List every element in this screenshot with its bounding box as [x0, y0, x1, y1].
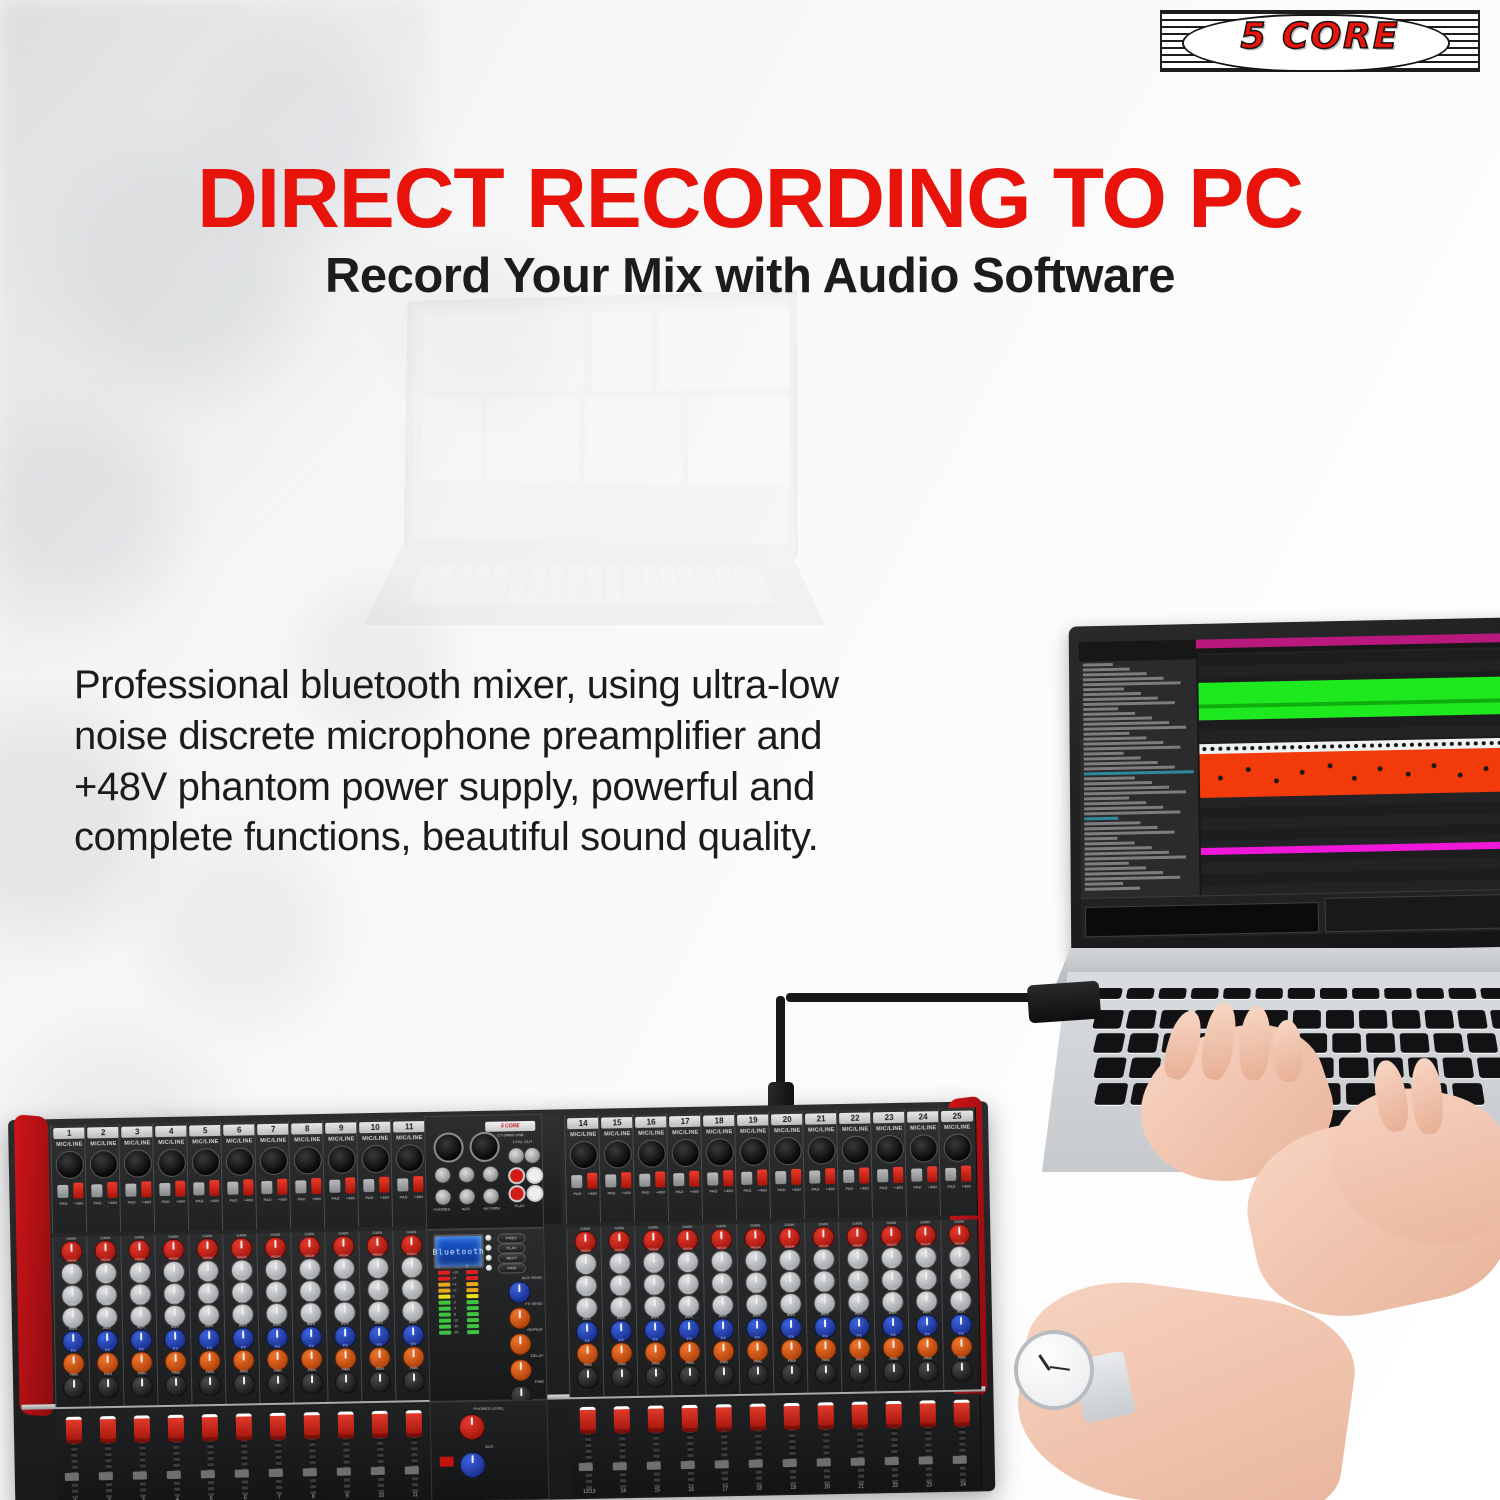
combo-jack[interactable] — [604, 1140, 633, 1169]
phantom-power-switch[interactable] — [791, 1169, 801, 1185]
vu-scale-label: -2 — [453, 1300, 456, 1304]
pad-switch[interactable] — [673, 1173, 684, 1186]
fader-cap[interactable] — [372, 1411, 389, 1438]
pad-label: PAD — [362, 1195, 378, 1200]
vu-scale-label: -30 — [453, 1330, 458, 1334]
combo-jack[interactable] — [875, 1135, 904, 1164]
vu-segment-right — [467, 1318, 479, 1322]
fader-cap[interactable] — [648, 1405, 665, 1432]
vu-segment-left — [438, 1271, 450, 1275]
pad-switch[interactable] — [193, 1182, 204, 1195]
fader-cap[interactable] — [614, 1406, 631, 1433]
body-paragraph: Professional bluetooth mixer, using ultr… — [74, 660, 864, 863]
vu-segment-left — [438, 1289, 450, 1293]
phones-jack[interactable] — [434, 1167, 451, 1184]
fader-cap[interactable] — [920, 1400, 937, 1427]
pfl-button[interactable] — [919, 1456, 933, 1464]
page-subheadline: Record Your Mix with Audio Software — [0, 248, 1500, 304]
combo-jack[interactable] — [124, 1149, 153, 1178]
pfl-button[interactable] — [201, 1470, 215, 1478]
combo-jack[interactable] — [226, 1147, 255, 1176]
bt-button-pair[interactable]: PAIR — [498, 1263, 526, 1274]
pad-label: PAD — [841, 1186, 857, 1191]
phones-label: PHONES — [429, 1206, 455, 1211]
vu-left-label: L — [438, 1265, 440, 1269]
channel-fader[interactable]: 8 — [294, 1406, 333, 1500]
pfl-button[interactable] — [715, 1460, 729, 1468]
channel-number: 21 — [805, 1113, 837, 1125]
channel-fader[interactable]: 1 — [56, 1410, 95, 1500]
phantom-power-switch[interactable] — [379, 1177, 389, 1193]
channel-input-label: MIC/LINE — [153, 1140, 189, 1147]
phantom-power-switch[interactable] — [107, 1182, 117, 1198]
phantom-label: +48V — [958, 1183, 974, 1188]
pad-label: PAD — [396, 1194, 412, 1199]
usb-plug-laptop-end — [1027, 981, 1101, 1024]
combo-jack[interactable] — [671, 1139, 700, 1168]
combo-jack[interactable] — [328, 1145, 357, 1174]
phantom-label: +48V — [139, 1199, 155, 1204]
channel-number: 17 — [669, 1116, 701, 1128]
phantom-label: +48V — [207, 1198, 223, 1203]
channel-fader[interactable]: 2 — [90, 1410, 129, 1500]
knob-pan[interactable] — [815, 1362, 837, 1384]
pad-label: PAD — [260, 1197, 276, 1202]
vu-scale-label: -20 — [453, 1324, 458, 1328]
master-knob-label: FINE — [488, 1379, 544, 1385]
pad-switch[interactable] — [945, 1168, 956, 1181]
channel-fader[interactable]: 14 — [603, 1400, 642, 1497]
fader-cap[interactable] — [852, 1402, 869, 1429]
phantom-power-switch[interactable] — [689, 1171, 699, 1187]
phantom-power-switch[interactable] — [209, 1180, 219, 1196]
pad-switch[interactable] — [295, 1180, 306, 1193]
mixer-channel-strip[interactable]: 25MIC/LINEPAD+48V — [938, 1107, 978, 1216]
pfl-button[interactable] — [579, 1463, 593, 1471]
phantom-label: +48V — [584, 1191, 600, 1196]
fader-number: 8 — [295, 1494, 331, 1500]
logo-text: 5 CORE — [1160, 16, 1480, 57]
channel-fader[interactable]: 19 — [773, 1397, 812, 1494]
pad-switch[interactable] — [227, 1182, 238, 1195]
channel-number: 10 — [359, 1122, 391, 1134]
pad-switch[interactable] — [57, 1185, 68, 1198]
pad-switch[interactable] — [125, 1184, 136, 1197]
knob-pan[interactable] — [131, 1375, 153, 1397]
pad-switch[interactable] — [877, 1169, 888, 1182]
phantom-power-switch[interactable] — [757, 1169, 767, 1185]
channel-number: 5 — [189, 1125, 221, 1137]
daw-transport — [1081, 889, 1500, 940]
combo-jack[interactable] — [943, 1134, 972, 1163]
combo-jack[interactable] — [362, 1145, 391, 1174]
channel-fader[interactable]: 12/13 — [570, 1401, 609, 1498]
vu-segment-right — [466, 1276, 478, 1280]
phantom-power-switch[interactable] — [345, 1177, 355, 1193]
phantom-label: +48V — [105, 1200, 121, 1205]
aux-master-knob[interactable] — [459, 1452, 485, 1478]
knob-pan[interactable] — [883, 1361, 905, 1383]
phones-level-label: PHONES LEVEL — [431, 1405, 547, 1412]
mixer-phones-section[interactable]: PHONES LEVELAUX — [429, 1400, 549, 1500]
pfl-button[interactable] — [337, 1467, 351, 1475]
pad-switch[interactable] — [571, 1175, 582, 1188]
phantom-label: +48V — [241, 1197, 257, 1202]
fader-cap[interactable] — [818, 1402, 835, 1429]
pfl-button[interactable] — [405, 1466, 419, 1474]
pad-label: PAD — [705, 1188, 721, 1193]
knob-pan[interactable] — [233, 1373, 255, 1395]
promo-banner: MacBook Pro 5 CORE DIRECT RECORDING TO P… — [0, 0, 1500, 1500]
knob-pan[interactable] — [781, 1363, 803, 1385]
channel-fader[interactable]: 4 — [158, 1408, 197, 1500]
pad-switch[interactable] — [605, 1174, 616, 1187]
phantom-label: +48V — [720, 1188, 736, 1193]
channel-input-label: MIC/LINE — [701, 1129, 737, 1136]
channel-number: 11 — [393, 1121, 425, 1133]
phantom-power-switch[interactable] — [413, 1176, 423, 1192]
knob-pan[interactable] — [951, 1360, 973, 1382]
pad-switch[interactable] — [397, 1178, 408, 1191]
pad-switch[interactable] — [639, 1174, 650, 1187]
channel-fader[interactable]: 3 — [124, 1409, 163, 1500]
pad-switch[interactable] — [363, 1179, 374, 1192]
pad-switch[interactable] — [91, 1184, 102, 1197]
vu-segment-right — [466, 1282, 478, 1286]
channel-fader[interactable]: 7 — [260, 1407, 299, 1500]
aux-indicator — [440, 1457, 454, 1467]
aux-out-jack[interactable] — [458, 1166, 475, 1183]
pfl-button[interactable] — [235, 1469, 249, 1477]
channel-fader[interactable]: 10 — [362, 1405, 401, 1500]
vu-segment-right — [467, 1324, 479, 1328]
combo-jack[interactable] — [807, 1136, 836, 1165]
phantom-power-switch[interactable] — [73, 1183, 83, 1199]
vu-segment-left — [439, 1319, 451, 1323]
channel-fader[interactable]: 18 — [739, 1397, 778, 1494]
phantom-power-switch[interactable] — [621, 1172, 631, 1188]
phantom-power-switch[interactable] — [277, 1179, 287, 1195]
vu-scale-label: -10 — [453, 1318, 458, 1322]
pad-switch[interactable] — [707, 1172, 718, 1185]
channel-number: 2 — [87, 1127, 119, 1139]
phantom-power-switch[interactable] — [141, 1181, 151, 1197]
vu-segment-right — [466, 1288, 478, 1292]
led-indicator — [486, 1265, 492, 1271]
channel-fader[interactable]: 5 — [192, 1408, 231, 1500]
knob-pan[interactable] — [369, 1371, 391, 1393]
channel-input-label: MIC/LINE — [837, 1126, 873, 1133]
ctrl-out-jack-l[interactable] — [508, 1147, 525, 1164]
combo-jack[interactable] — [705, 1138, 734, 1167]
return-jack-a[interactable] — [482, 1166, 499, 1183]
rca-out-left[interactable] — [508, 1185, 525, 1202]
vu-segment-right — [467, 1330, 479, 1334]
ctrl-out-label: CTRL OUT — [503, 1139, 541, 1145]
channel-number: 18 — [703, 1115, 735, 1127]
channel-fader[interactable]: 21 — [841, 1395, 880, 1492]
channel-number: 8 — [291, 1123, 323, 1135]
phantom-power-switch[interactable] — [859, 1167, 869, 1183]
fader-cap[interactable] — [202, 1414, 219, 1441]
fader-number: 12/13 — [571, 1489, 607, 1496]
phantom-label: +48V — [822, 1186, 838, 1191]
phantom-label: +48V — [754, 1187, 770, 1192]
knob-pan[interactable] — [403, 1370, 425, 1392]
combo-jack[interactable] — [260, 1147, 289, 1176]
vu-segment-left — [439, 1331, 451, 1335]
pfl-button[interactable] — [953, 1456, 967, 1464]
pfl-button[interactable] — [647, 1462, 661, 1470]
pfl-button[interactable] — [269, 1469, 283, 1477]
fader-cap[interactable] — [750, 1404, 767, 1431]
fader-number: 21 — [843, 1483, 879, 1490]
knob-pan[interactable] — [577, 1367, 599, 1389]
phantom-power-switch[interactable] — [723, 1170, 733, 1186]
channel-number: 23 — [873, 1112, 905, 1124]
mixer-master-section[interactable]: BluetoothPREVPLAYNEXTPAIR+10+7+4+20-2-4-… — [426, 1228, 547, 1402]
pad-switch[interactable] — [775, 1171, 786, 1184]
channel-number: 6 — [223, 1124, 255, 1136]
combo-jack[interactable] — [396, 1144, 425, 1173]
fader-cap[interactable] — [886, 1401, 903, 1428]
ghost-laptop-keyboard — [406, 566, 774, 604]
pad-switch[interactable] — [329, 1180, 340, 1193]
phantom-label: +48V — [686, 1189, 702, 1194]
ctrl-out-jack-r[interactable] — [524, 1147, 541, 1164]
pfl-button[interactable] — [167, 1471, 181, 1479]
ghost-laptop-illustration: MacBook Pro — [355, 295, 825, 625]
channel-fader[interactable]: 24 — [943, 1393, 982, 1490]
pad-label: PAD — [124, 1199, 140, 1204]
pad-switch[interactable] — [843, 1170, 854, 1183]
phantom-power-switch[interactable] — [311, 1178, 321, 1194]
fader-cap[interactable] — [784, 1403, 801, 1430]
fader-cap[interactable] — [682, 1405, 699, 1432]
master-knob-label: DELAY — [488, 1353, 544, 1359]
vu-meter: +10+7+4+20-2-4-6-10-20-30LR — [436, 1270, 481, 1343]
vu-segment-left — [439, 1325, 451, 1329]
channel-number: 1 — [53, 1128, 85, 1140]
pad-switch[interactable] — [261, 1181, 272, 1194]
knob-pan[interactable] — [199, 1374, 221, 1396]
combo-jack[interactable] — [294, 1146, 323, 1175]
channel-knob-column[interactable]: GAINHIGHMIDLOWAUXFXPAN — [940, 1219, 981, 1390]
pfl-button[interactable] — [613, 1462, 627, 1470]
channel-fader[interactable]: 16 — [671, 1399, 710, 1496]
pad-label: PAD — [671, 1189, 687, 1194]
mixer-usb-panel — [542, 1115, 562, 1223]
rca-in-left[interactable] — [508, 1167, 525, 1184]
combo-jack[interactable] — [158, 1149, 187, 1178]
channel-input-label: MIC/LINE — [633, 1130, 669, 1137]
phantom-power-switch[interactable] — [825, 1168, 835, 1184]
phones-level-knob[interactable] — [459, 1414, 485, 1440]
channel-input-label: MIC/LINE — [905, 1125, 941, 1132]
channel-input-label: MIC/LINE — [667, 1130, 703, 1137]
fader-cap[interactable] — [168, 1415, 185, 1442]
knob-pan[interactable] — [747, 1363, 769, 1385]
pfl-button[interactable] — [749, 1460, 763, 1468]
vu-segment-right — [467, 1312, 479, 1316]
knob-pan[interactable] — [917, 1360, 939, 1382]
fader-number: 23 — [911, 1482, 947, 1489]
ghost-laptop-badge: MacBook Pro — [545, 533, 599, 543]
knob-pan[interactable] — [301, 1372, 323, 1394]
pad-label: PAD — [773, 1187, 789, 1192]
pfl-button[interactable] — [65, 1473, 79, 1481]
fader-number: 11 — [397, 1492, 433, 1499]
mixer-model-label: CT-24MD USB — [485, 1132, 535, 1138]
pfl-button[interactable] — [851, 1458, 865, 1466]
pad-switch[interactable] — [741, 1172, 752, 1185]
rca-in-right[interactable] — [526, 1167, 543, 1184]
pad-label: PAD — [637, 1190, 653, 1195]
vu-segment-left — [439, 1313, 451, 1317]
combo-jack[interactable] — [773, 1137, 802, 1166]
phantom-label: +48V — [173, 1199, 189, 1204]
phantom-label: +48V — [856, 1185, 872, 1190]
channel-number: 25 — [941, 1110, 973, 1122]
channel-input-label: MIC/LINE — [735, 1128, 771, 1135]
channel-fader[interactable]: 20 — [807, 1396, 846, 1493]
combo-jack[interactable] — [909, 1134, 938, 1163]
audio-mixer: 1MIC/LINEPAD+48V2MIC/LINEPAD+48V3MIC/LIN… — [8, 1101, 995, 1500]
fader-cap[interactable] — [270, 1413, 287, 1440]
channel-fader[interactable]: 17 — [705, 1398, 744, 1495]
ghost-daw-ui — [412, 300, 788, 548]
xlr-input-left[interactable] — [433, 1132, 464, 1163]
fader-cap[interactable] — [304, 1412, 321, 1439]
channel-number: 3 — [121, 1126, 153, 1138]
channel-input-label: MIC/LINE — [769, 1128, 805, 1135]
phantom-power-switch[interactable] — [243, 1179, 253, 1195]
pfl-button[interactable] — [817, 1458, 831, 1466]
combo-jack[interactable] — [841, 1135, 870, 1164]
pfl-button[interactable] — [783, 1459, 797, 1467]
fader-cap[interactable] — [134, 1415, 151, 1442]
bt-button-next[interactable]: NEXT — [498, 1253, 526, 1264]
fader-cap[interactable] — [954, 1400, 971, 1427]
combo-jack[interactable] — [637, 1139, 666, 1168]
led-indicator — [486, 1255, 492, 1261]
fader-cap[interactable] — [66, 1417, 83, 1444]
pad-label: PAD — [158, 1199, 174, 1204]
bt-button-prev[interactable]: PREV — [497, 1233, 525, 1244]
knob-pan[interactable] — [645, 1365, 667, 1387]
channel-fader[interactable]: 9 — [328, 1405, 367, 1500]
channel-input-label: MIC/LINE — [803, 1127, 839, 1134]
channel-fader[interactable]: 22 — [875, 1395, 914, 1492]
pfl-button[interactable] — [371, 1467, 385, 1475]
combo-jack[interactable] — [90, 1150, 119, 1179]
combo-jack[interactable] — [56, 1151, 85, 1180]
combo-jack[interactable] — [192, 1148, 221, 1177]
fader-cap[interactable] — [716, 1404, 733, 1431]
channel-fader[interactable]: 6 — [226, 1407, 265, 1500]
bluetooth-lcd-display: Bluetooth — [433, 1234, 484, 1269]
fader-cap[interactable] — [580, 1407, 597, 1434]
channel-fader[interactable]: 11 — [396, 1404, 435, 1500]
pad-label: PAD — [328, 1196, 344, 1201]
bt-button-play[interactable]: PLAY — [497, 1243, 525, 1254]
phantom-power-switch[interactable] — [175, 1181, 185, 1197]
pad-switch[interactable] — [809, 1170, 820, 1183]
knob-pan[interactable] — [267, 1373, 289, 1395]
combo-jack[interactable] — [739, 1137, 768, 1166]
knob-pan[interactable] — [679, 1365, 701, 1387]
mixer-rear-connector-panel[interactable]: 5 CORECT-24MD USBPHONESAUXRETURNCTRL OUT… — [424, 1114, 544, 1230]
phantom-label: +48V — [652, 1189, 668, 1194]
pad-label: PAD — [909, 1184, 925, 1189]
fader-cap[interactable] — [236, 1413, 253, 1440]
pad-label: PAD — [90, 1200, 106, 1205]
pad-switch[interactable] — [159, 1183, 170, 1196]
return-jack-b[interactable] — [482, 1188, 499, 1205]
pfl-button[interactable] — [133, 1471, 147, 1479]
knob-pan[interactable] — [335, 1371, 357, 1393]
knob-pan[interactable] — [97, 1376, 119, 1398]
phantom-power-switch[interactable] — [927, 1166, 937, 1182]
knob-pan[interactable] — [165, 1375, 187, 1397]
combo-jack[interactable] — [570, 1141, 599, 1170]
channel-number: 20 — [771, 1114, 803, 1126]
fader-number: 20 — [809, 1484, 845, 1491]
pfl-button[interactable] — [681, 1461, 695, 1469]
channel-fader[interactable]: 23 — [909, 1394, 948, 1491]
phantom-power-switch[interactable] — [587, 1173, 597, 1189]
knob-pan[interactable] — [713, 1364, 735, 1386]
aux-out-jack-2[interactable] — [458, 1188, 475, 1205]
pfl-button[interactable] — [99, 1472, 113, 1480]
fader-number: 19 — [775, 1485, 811, 1492]
fader-number: 10 — [363, 1493, 399, 1500]
knob-pan[interactable] — [849, 1361, 871, 1383]
fader-number: 22 — [877, 1483, 913, 1490]
phantom-power-switch[interactable] — [961, 1166, 971, 1182]
vu-scale-label: +2 — [452, 1288, 456, 1292]
vu-segment-right — [466, 1270, 478, 1274]
channel-input-label: MIC/LINE — [871, 1126, 907, 1133]
phantom-power-switch[interactable] — [893, 1167, 903, 1183]
fader-number: 15 — [639, 1487, 675, 1494]
ghost-laptop-screen — [404, 290, 798, 558]
page-headline: DIRECT RECORDING TO PC — [0, 150, 1500, 247]
daw-arrange-area — [1198, 647, 1500, 897]
master-knob[interactable] — [510, 1359, 532, 1381]
pfl-button[interactable] — [303, 1468, 317, 1476]
fader-cap[interactable] — [338, 1411, 355, 1438]
master-knob-label: AUX SEND — [486, 1275, 542, 1281]
rca-out-right[interactable] — [526, 1185, 543, 1202]
phantom-power-switch[interactable] — [655, 1171, 665, 1187]
knob-pan[interactable] — [63, 1377, 85, 1399]
fader-cap[interactable] — [100, 1416, 117, 1443]
phantom-label: +48V — [411, 1194, 427, 1199]
fader-cap[interactable] — [406, 1410, 423, 1437]
pad-switch[interactable] — [911, 1168, 922, 1181]
knob-pan[interactable] — [611, 1366, 633, 1388]
return-label: RETURN — [477, 1205, 507, 1211]
pfl-button[interactable] — [885, 1457, 899, 1465]
pad-label: PAD — [294, 1196, 310, 1201]
phones-jack-2[interactable] — [434, 1189, 451, 1206]
wristwatch-face — [1014, 1330, 1094, 1410]
vu-segment-left — [438, 1295, 450, 1299]
channel-fader[interactable]: 15 — [637, 1399, 676, 1496]
channel-number: 15 — [601, 1117, 633, 1129]
play-label: PLAY — [505, 1203, 535, 1209]
